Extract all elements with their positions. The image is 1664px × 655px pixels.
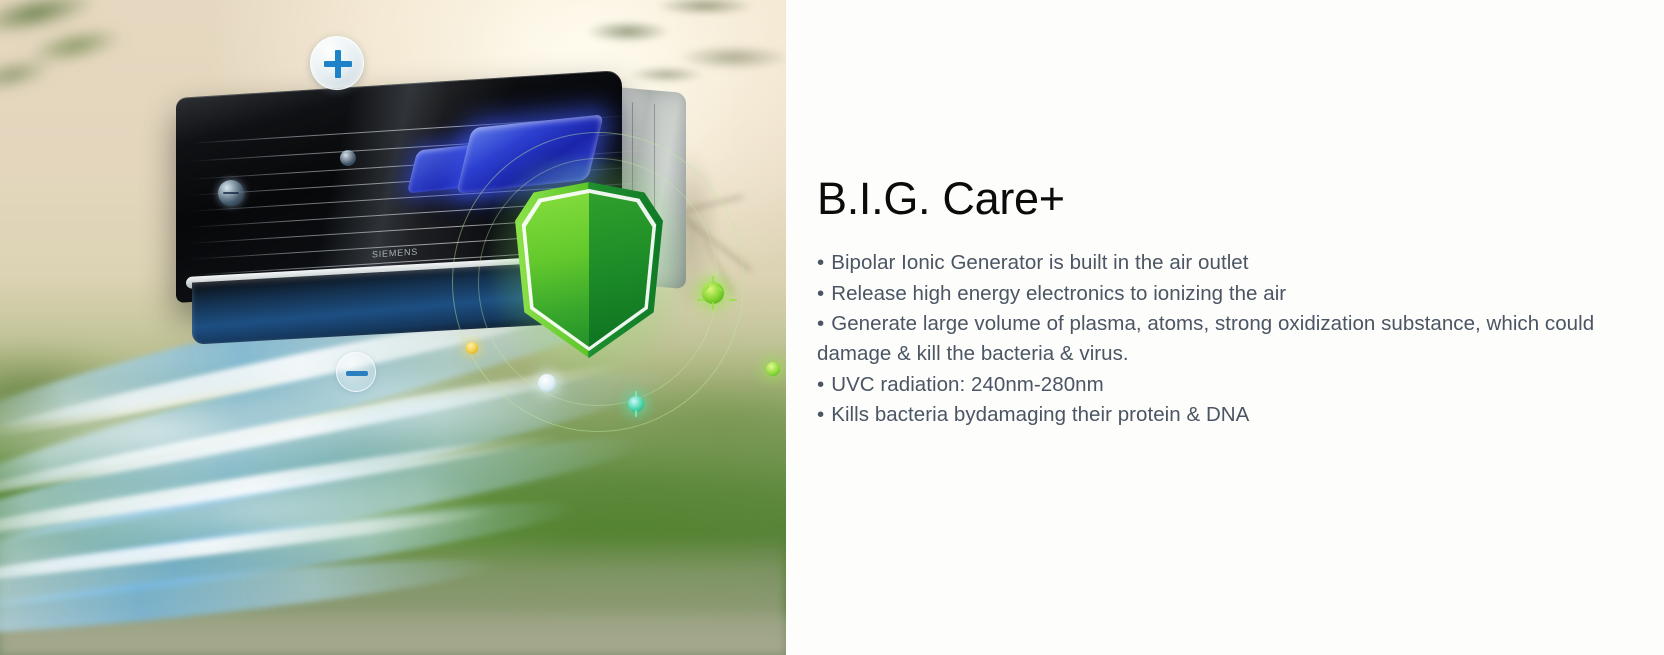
hero-product-image: SIEMENS bbox=[0, 0, 786, 655]
list-item: •Kills bacteria bydamaging their protein… bbox=[817, 400, 1607, 430]
germ-particle bbox=[466, 342, 478, 354]
list-item: •Bipolar Ionic Generator is built in the… bbox=[817, 248, 1607, 278]
list-item-text: Generate large volume of plasma, atoms, … bbox=[817, 312, 1594, 365]
list-item: •Generate large volume of plasma, atoms,… bbox=[817, 309, 1607, 370]
bullet-marker: • bbox=[817, 403, 824, 426]
list-item-text: UVC radiation: 240nm-280nm bbox=[831, 373, 1104, 396]
bullet-marker: • bbox=[817, 312, 824, 335]
bullet-marker: • bbox=[817, 282, 824, 305]
bullet-marker: • bbox=[817, 251, 824, 274]
feature-list: •Bipolar Ionic Generator is built in the… bbox=[817, 248, 1607, 430]
positive-ion-icon bbox=[310, 36, 364, 90]
shield-halo-inner bbox=[478, 158, 718, 406]
feature-text-panel: B.I.G. Care+ •Bipolar Ionic Generator is… bbox=[786, 0, 1664, 655]
list-item: •Release high energy electronics to ioni… bbox=[817, 279, 1607, 309]
bullet-marker: • bbox=[817, 373, 824, 396]
list-item-text: Bipolar Ionic Generator is built in the … bbox=[831, 251, 1248, 274]
page-title: B.I.G. Care+ bbox=[817, 175, 1607, 222]
product-feature-panel: SIEMENS bbox=[0, 0, 1664, 655]
germ-particle bbox=[766, 362, 780, 376]
list-item-text: Kills bacteria bydamaging their protein … bbox=[831, 403, 1249, 426]
germ-particle bbox=[702, 282, 724, 304]
ac-sensor-badge bbox=[218, 180, 244, 206]
germ-particle bbox=[538, 374, 556, 392]
ac-sensor-small bbox=[340, 150, 356, 166]
list-item-text: Release high energy electronics to ioniz… bbox=[831, 282, 1286, 305]
list-item: •UVC radiation: 240nm-280nm bbox=[817, 370, 1607, 400]
germ-particle bbox=[628, 396, 644, 412]
negative-ion-icon bbox=[336, 352, 376, 392]
